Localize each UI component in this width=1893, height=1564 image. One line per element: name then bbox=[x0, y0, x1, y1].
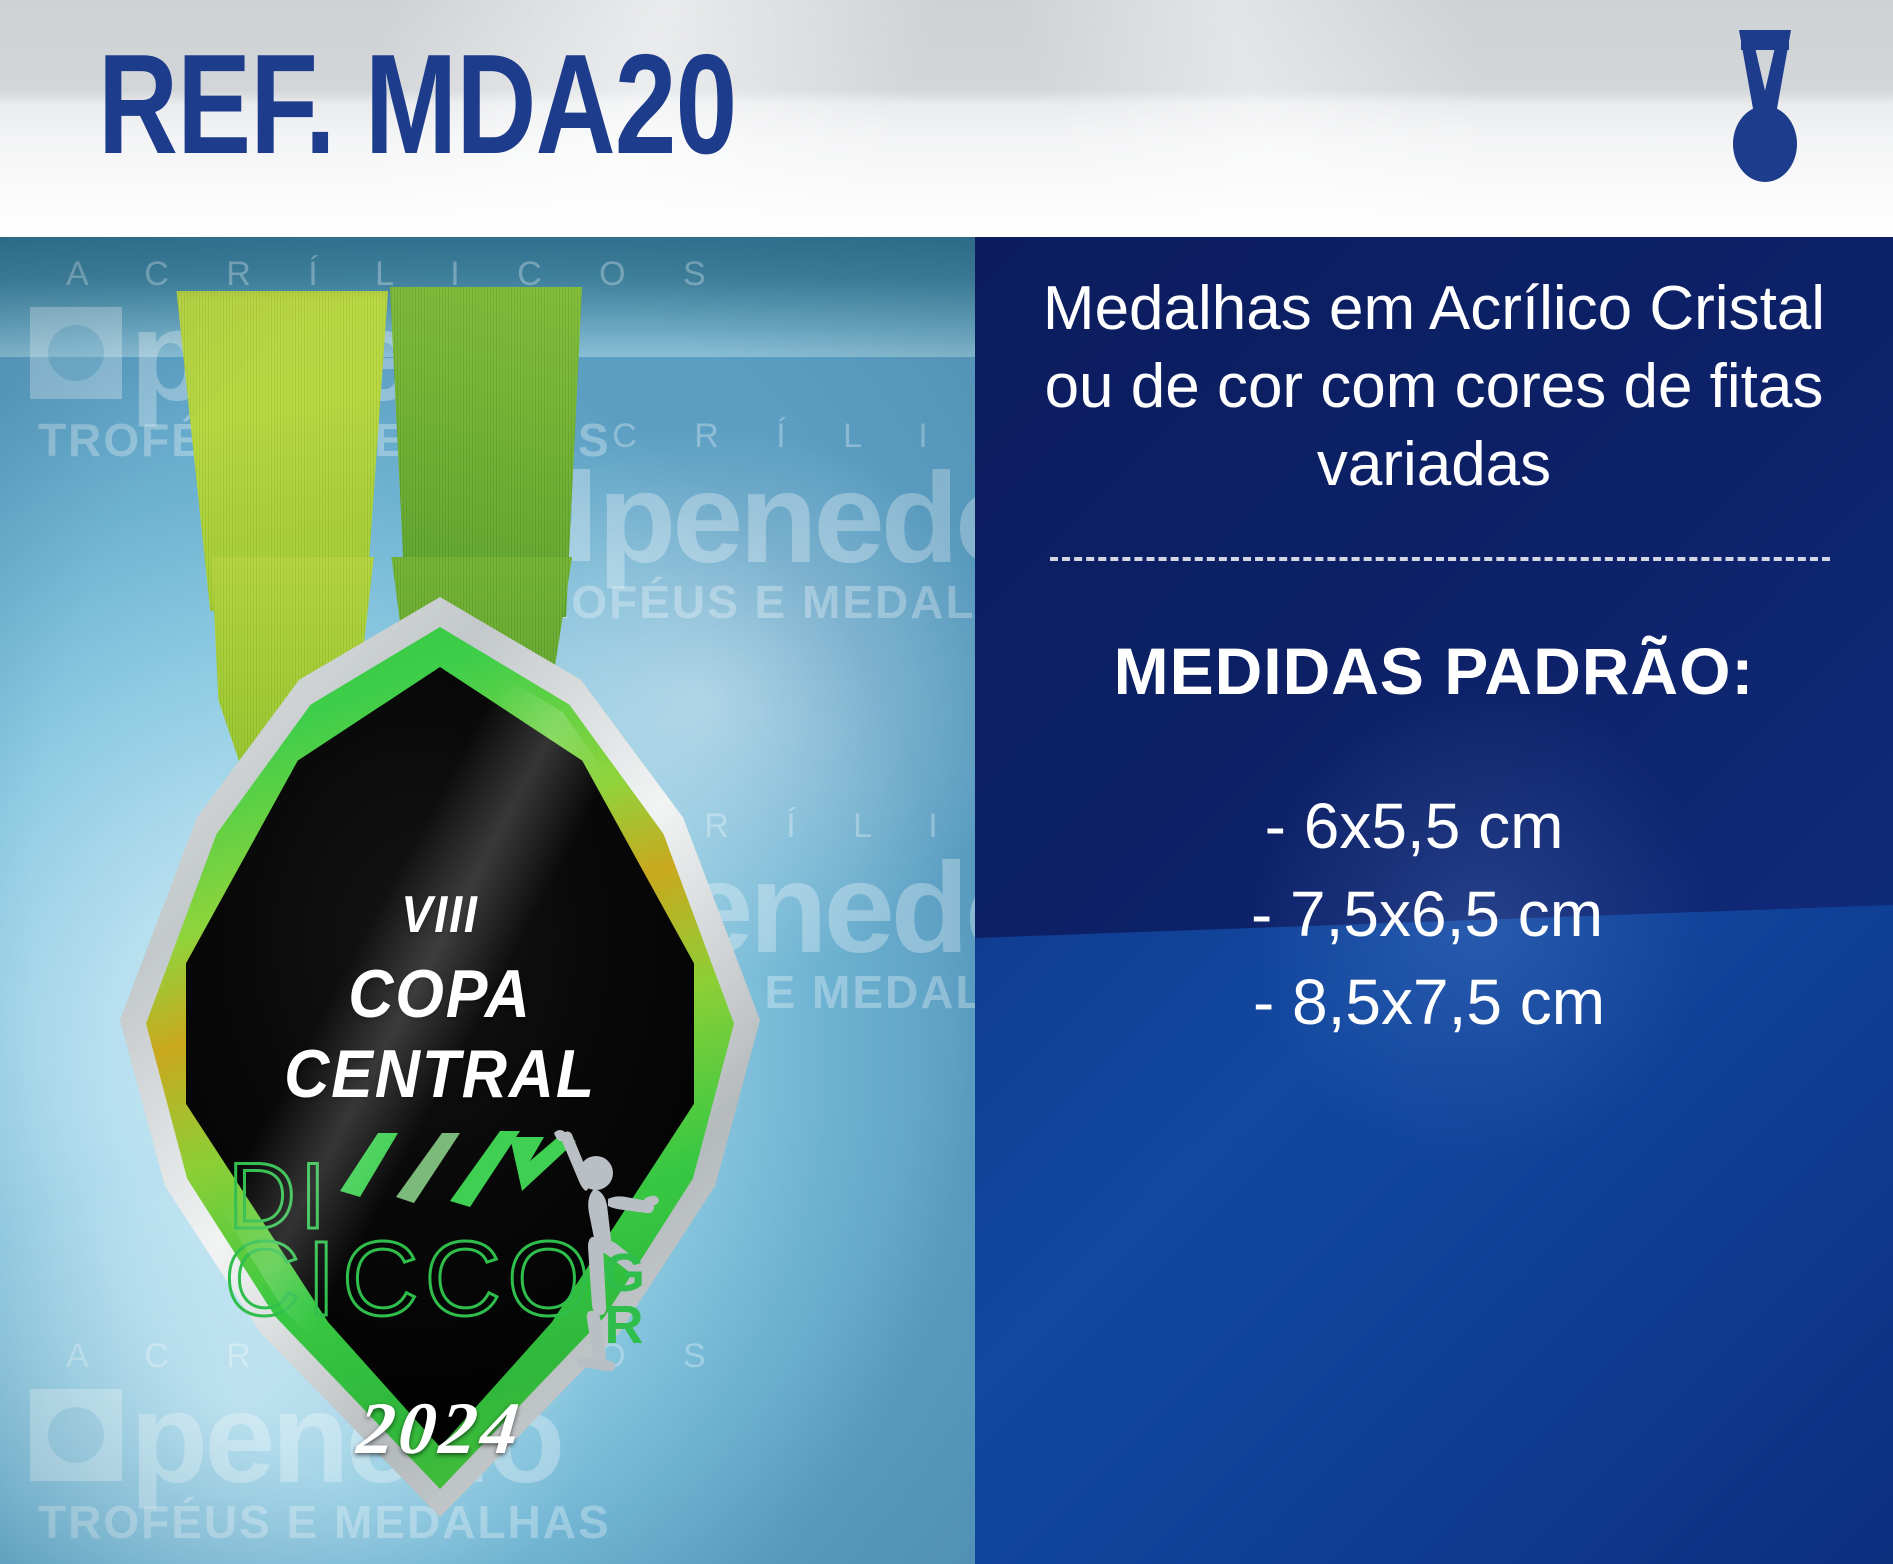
sizes-heading: MEDIDAS PADRÃO: bbox=[1015, 633, 1853, 709]
info-panel: Medalhas em Acrílico Cristal ou de cor c… bbox=[975, 237, 1893, 1564]
list-item: - 8,5x7,5 cm bbox=[1015, 958, 1853, 1046]
photo-vignette bbox=[0, 237, 975, 1564]
list-item: - 6x5,5 cm bbox=[1015, 782, 1853, 870]
product-description: Medalhas em Acrílico Cristal ou de cor c… bbox=[1015, 270, 1853, 504]
page-title: REF. MDA20 bbox=[98, 34, 736, 176]
product-image: A C R Í L I C O S penedo TROFÉUS E MEDAL… bbox=[0, 237, 975, 1564]
section-divider bbox=[1050, 557, 1830, 561]
product-card: REF. MDA20 A C R Í L I C O S penedo TROF… bbox=[0, 0, 1893, 1564]
medal-icon bbox=[1707, 26, 1823, 186]
sizes-list: - 6x5,5 cm - 7,5x6,5 cm - 8,5x7,5 cm bbox=[1015, 782, 1853, 1046]
list-item: - 7,5x6,5 cm bbox=[1015, 870, 1853, 958]
card-header: REF. MDA20 bbox=[0, 0, 1893, 237]
